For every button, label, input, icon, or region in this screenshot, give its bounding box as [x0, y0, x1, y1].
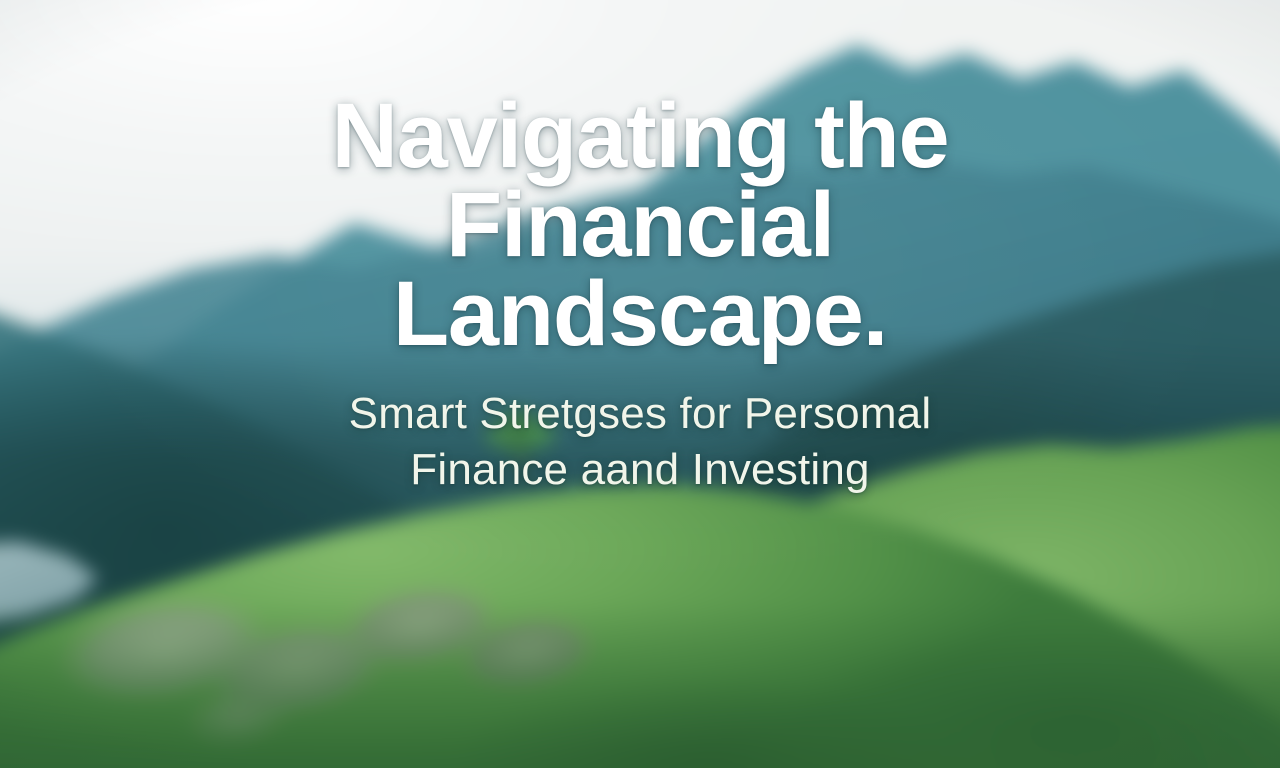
headline-line-2: Financial — [331, 181, 948, 270]
poster-text-content: Navigating the Financial Landscape. Smar… — [0, 0, 1280, 768]
headline-line-3: Landscape. — [331, 270, 948, 359]
page-subtitle: Smart Stretgses for Persomal Finance aan… — [349, 386, 932, 499]
subtitle-line-2: Finance aand Investing — [349, 442, 932, 498]
poster-hero: Navigating the Financial Landscape. Smar… — [0, 0, 1280, 768]
subtitle-line-1: Smart Stretgses for Persomal — [349, 386, 932, 442]
page-title: Navigating the Financial Landscape. — [331, 92, 948, 360]
headline-line-1: Navigating the — [331, 92, 948, 181]
